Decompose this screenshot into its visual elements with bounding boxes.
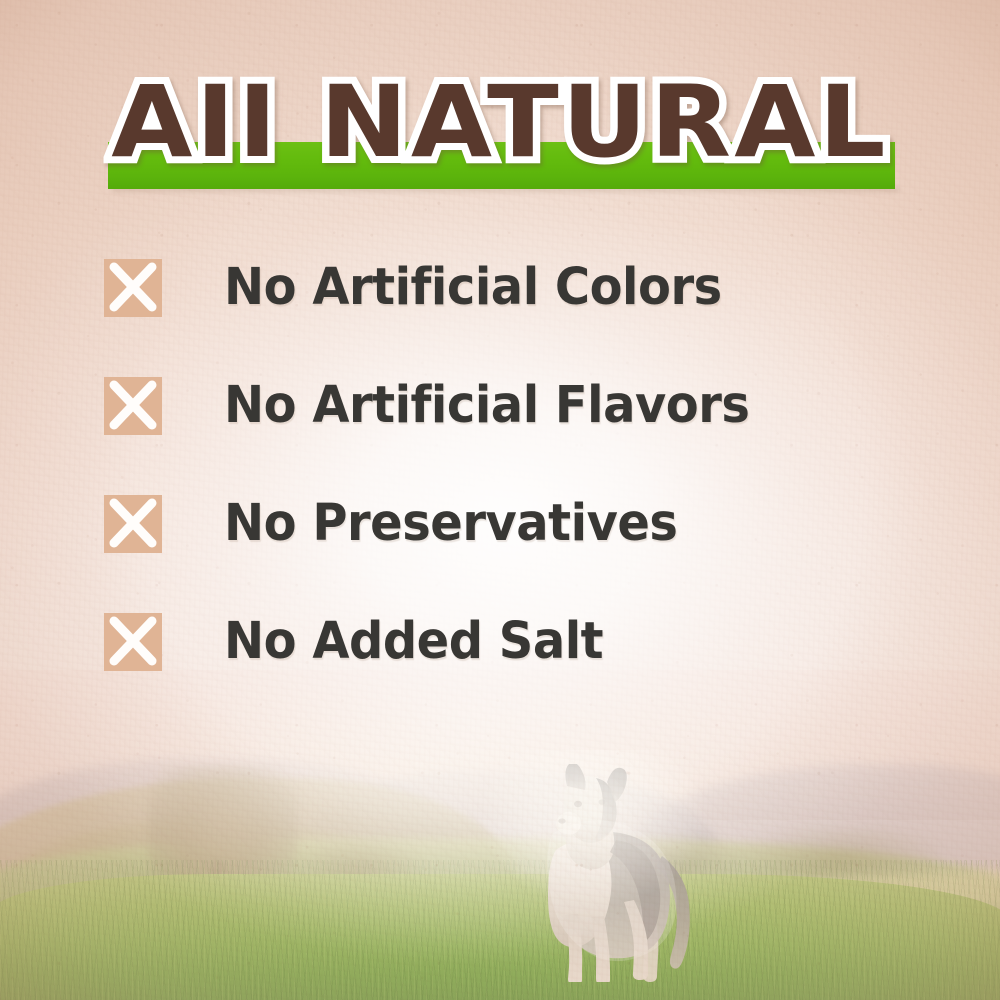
page-title: AII NATURAL	[0, 64, 1000, 182]
list-item: No Artificial Colors	[104, 258, 924, 318]
claim-label: No Preservatives	[224, 495, 677, 553]
claim-label: No Artificial Colors	[224, 259, 722, 317]
list-item: No Added Salt	[104, 612, 924, 672]
claim-label: No Added Salt	[224, 613, 603, 671]
list-item: No Artificial Flavors	[104, 376, 924, 436]
list-item: No Preservatives	[104, 494, 924, 554]
product-feature-poster: AII NATURAL No Artificial Colors No Arti…	[0, 0, 1000, 1000]
x-mark-icon	[104, 259, 162, 317]
claims-list: No Artificial Colors No Artificial Flavo…	[104, 258, 924, 730]
claim-label: No Artificial Flavors	[224, 377, 749, 435]
headline-banner: AII NATURAL	[0, 64, 1000, 200]
x-mark-icon	[104, 613, 162, 671]
x-mark-icon	[104, 495, 162, 553]
x-mark-icon	[104, 377, 162, 435]
